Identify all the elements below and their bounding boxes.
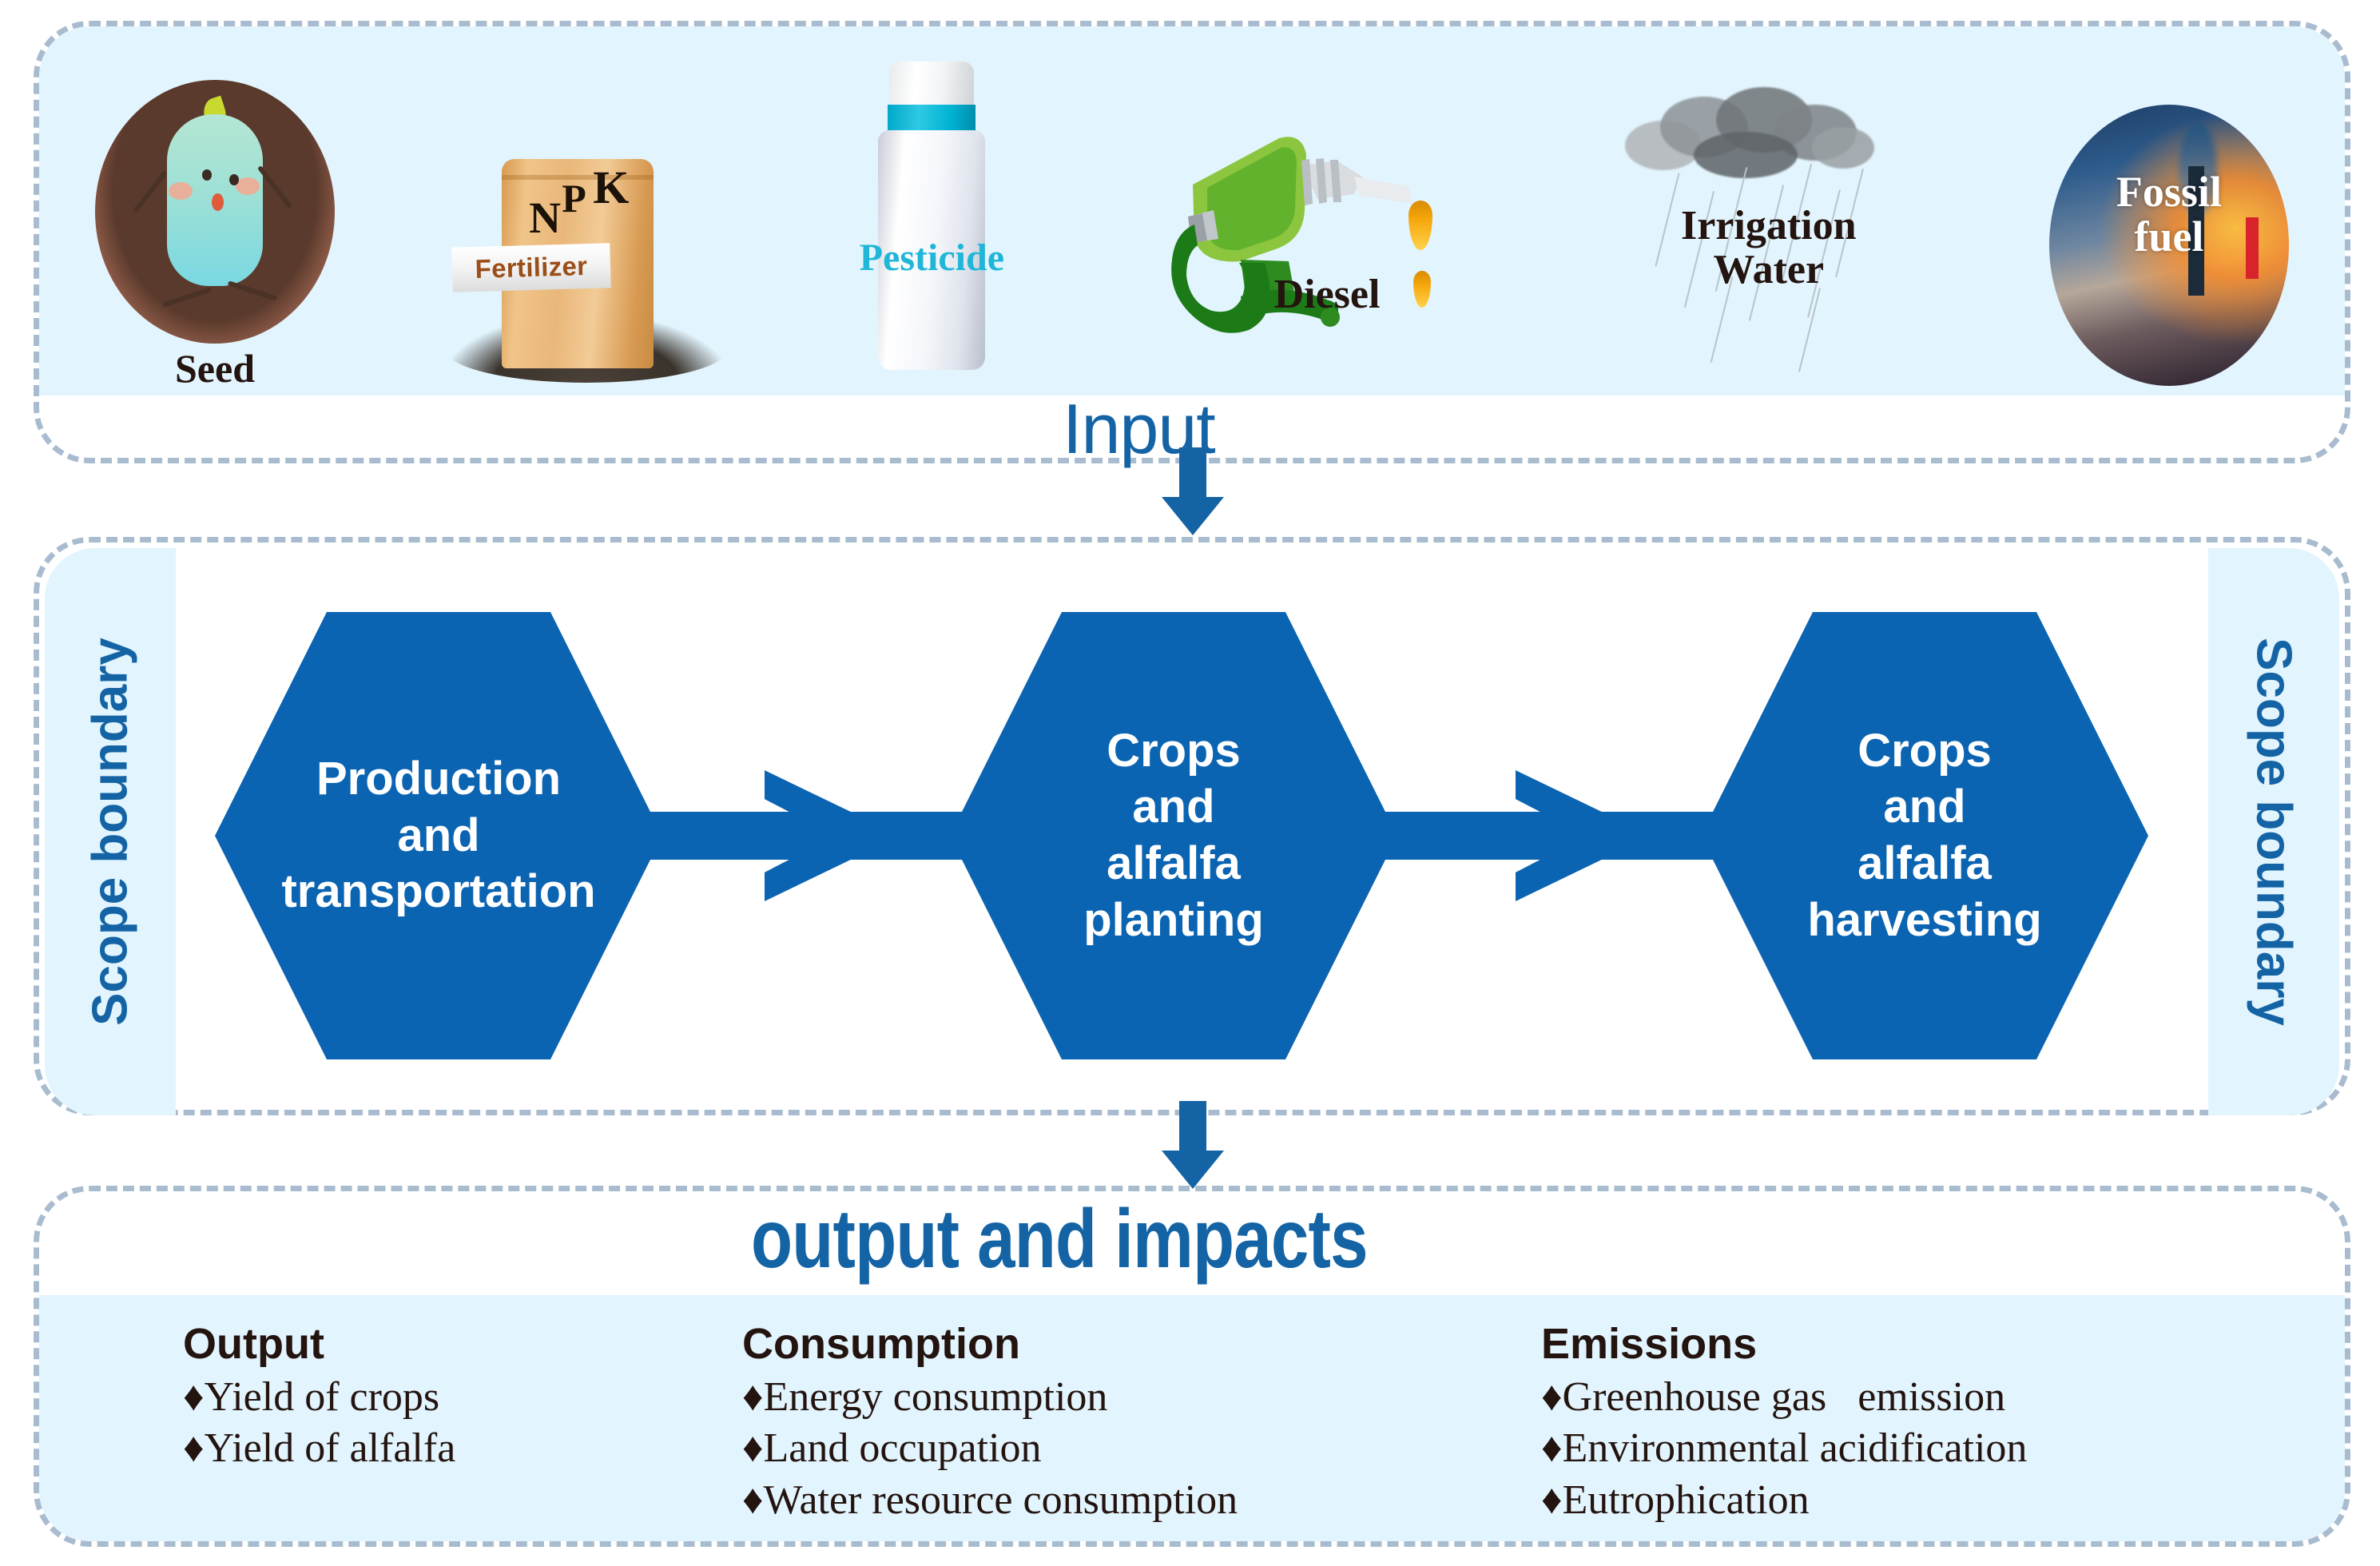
- output-column-emissions: Emissions ♦Greenhouse gas emission ♦Envi…: [1525, 1319, 2340, 1541]
- process-stage-production-and-transportation[interactable]: Production and transportation: [215, 612, 662, 1059]
- connector-bar: [614, 812, 982, 860]
- seed-cheek-right: [236, 177, 260, 195]
- output-columns: Output ♦Yield of crops ♦Yield of alfalfa…: [39, 1295, 2345, 1541]
- bottle-ring: [888, 105, 975, 132]
- output-column-heading: Output: [183, 1319, 694, 1369]
- input-item-fertilizer: N P K Fertilizer: [455, 26, 719, 389]
- input-label-irrigation-water: Irrigation Water: [1609, 204, 1929, 292]
- process-connector-2: [1365, 770, 1733, 901]
- input-item-pesticide: Pesticide: [840, 26, 1023, 389]
- input-label-seed: Seed: [175, 348, 255, 389]
- input-label-diesel: Diesel: [1274, 271, 1381, 318]
- cloud-shape: [1617, 82, 1881, 186]
- input-label-pesticide: Pesticide: [840, 236, 1023, 280]
- process-stage-crops-and-alfalfa-planting[interactable]: Crops and alfalfa planting: [950, 612, 1397, 1059]
- seed-in-pot-icon: [95, 80, 335, 344]
- input-item-irrigation-water: Irrigation Water: [1609, 26, 1929, 389]
- fossil-fuel-plant-icon: Fossil fuel: [2049, 105, 2289, 386]
- process-stage-label: Crops and alfalfa planting: [1083, 723, 1264, 949]
- bottle-cap: [889, 62, 974, 106]
- seed-leg-right: [228, 280, 278, 300]
- process-stage-label: Crops and alfalfa harvesting: [1807, 723, 2041, 949]
- process-stage-label: Production and transportation: [281, 751, 595, 920]
- output-list-item: ♦Greenhouse gas emission: [1541, 1372, 2340, 1423]
- input-item-fossil-fuel: Fossil fuel: [2049, 26, 2289, 389]
- arrow-down-input-icon: [1162, 447, 1224, 535]
- fertilizer-bag-icon: N P K Fertilizer: [455, 124, 719, 388]
- input-icon-row: Seed N P K Fertilizer Pesticide: [39, 26, 2345, 395]
- input-label-fertilizer: Fertilizer: [475, 251, 588, 284]
- output-column-consumption: Consumption ♦Energy consumption ♦Land oc…: [694, 1319, 1525, 1541]
- process-connector-1: [614, 770, 982, 901]
- connector-bar: [1365, 812, 1733, 860]
- output-list-item: ♦Energy consumption: [742, 1372, 1525, 1423]
- seed-mouth: [212, 193, 224, 211]
- process-panel: Scope boundary Scope boundary Production…: [34, 537, 2350, 1115]
- seed-arm-left: [133, 170, 168, 213]
- output-list-item: ♦Yield of crops: [183, 1372, 694, 1423]
- fuel-nozzle-icon: Diesel: [1145, 82, 1488, 386]
- npk-k-label: K: [593, 161, 629, 214]
- input-item-seed: Seed: [95, 26, 335, 389]
- seed-cheek-left: [169, 182, 193, 200]
- output-column-heading: Consumption: [742, 1319, 1525, 1369]
- output-column-output: Output ♦Yield of crops ♦Yield of alfalfa: [39, 1319, 694, 1541]
- lca-system-boundary-diagram: Seed N P K Fertilizer Pesticide: [0, 0, 2380, 1566]
- input-item-diesel: Diesel: [1145, 26, 1488, 389]
- scope-boundary-left-label: Scope boundary: [82, 638, 139, 1026]
- scope-boundary-left: Scope boundary: [45, 548, 176, 1115]
- output-list-item: ♦Land occupation: [742, 1423, 1525, 1474]
- output-list-item: ♦Water resource consumption: [742, 1475, 1525, 1526]
- output-list-item: ♦Yield of alfalfa: [183, 1423, 694, 1474]
- process-stage-crops-and-alfalfa-harvesting[interactable]: Crops and alfalfa harvesting: [1701, 612, 2148, 1059]
- output-list-item: ♦Eutrophication: [1541, 1475, 2340, 1526]
- bag-label-strip: Fertilizer: [451, 243, 610, 292]
- arrow-down-output-icon: [1162, 1101, 1224, 1189]
- output-column-heading: Emissions: [1541, 1319, 2340, 1369]
- pesticide-bottle-icon: Pesticide: [840, 62, 1023, 381]
- input-label-fossil-fuel: Fossil fuel: [2049, 169, 2289, 259]
- npk-p-label: P: [562, 175, 586, 221]
- npk-n-label: N: [529, 193, 561, 243]
- process-flow: Production and transportation Crops and …: [215, 548, 2244, 1115]
- seed-leg-left: [162, 287, 213, 307]
- seed-eye-left: [202, 169, 212, 181]
- fuel-nozzle-svg: [1145, 82, 1488, 386]
- output-list-item: ♦Environmental acidification: [1541, 1423, 2340, 1474]
- rain-cloud-icon: Irrigation Water: [1609, 70, 1929, 389]
- seed-eye-right: [229, 174, 239, 185]
- scope-boundary-right-label: Scope boundary: [2246, 638, 2303, 1026]
